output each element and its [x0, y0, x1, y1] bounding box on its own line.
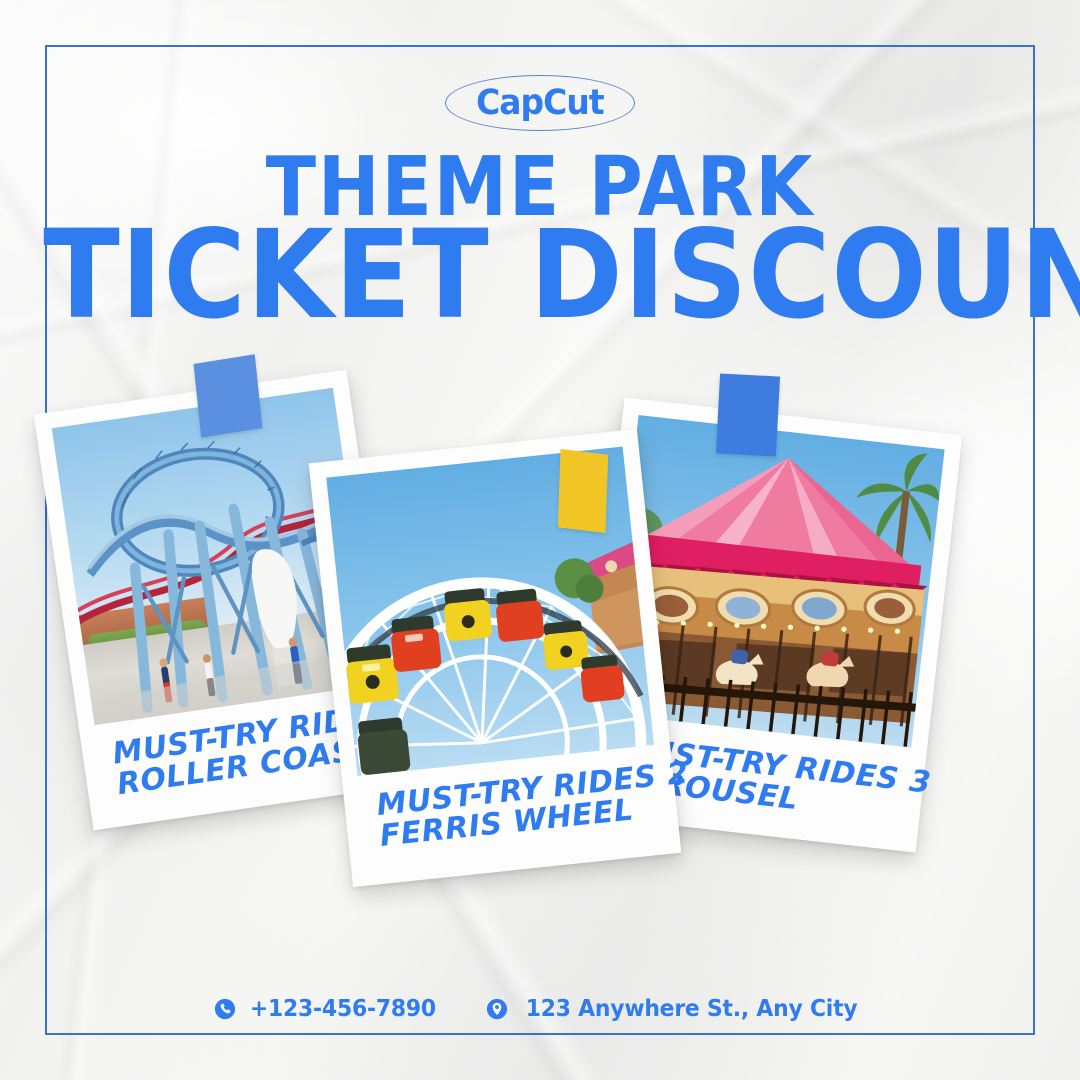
- poster-canvas: CapCut THEME PARK TICKET DISCOUNT: [0, 0, 1080, 1080]
- phone-number-text: +123-456-7890: [249, 996, 435, 1022]
- headline-line-2: TICKET DISCOUNT: [43, 219, 1037, 331]
- photo-card-ferris-wheel[interactable]: MUST-TRY RIDES 2 FERRIS WHEEL: [309, 429, 682, 887]
- phone-icon: [214, 998, 236, 1020]
- contact-address[interactable]: 123 Anywhere St., Any City: [486, 996, 866, 1022]
- footer-contact-bar: +123-456-7890 123 Anywhere St., Any City: [0, 996, 1080, 1022]
- capcut-logo-text: CapCut: [476, 86, 604, 121]
- tape-strip-roller-coaster: [194, 354, 263, 437]
- contact-phone[interactable]: +123-456-7890: [214, 996, 441, 1022]
- tape-strip-ferris-wheel: [558, 449, 608, 533]
- address-text: 123 Anywhere St., Any City: [526, 996, 858, 1022]
- tape-strip-carousel: [716, 373, 780, 456]
- capcut-logo-badge[interactable]: CapCut: [445, 75, 635, 131]
- location-pin-icon: [486, 998, 508, 1020]
- page-title: THEME PARK TICKET DISCOUNT: [0, 150, 1080, 332]
